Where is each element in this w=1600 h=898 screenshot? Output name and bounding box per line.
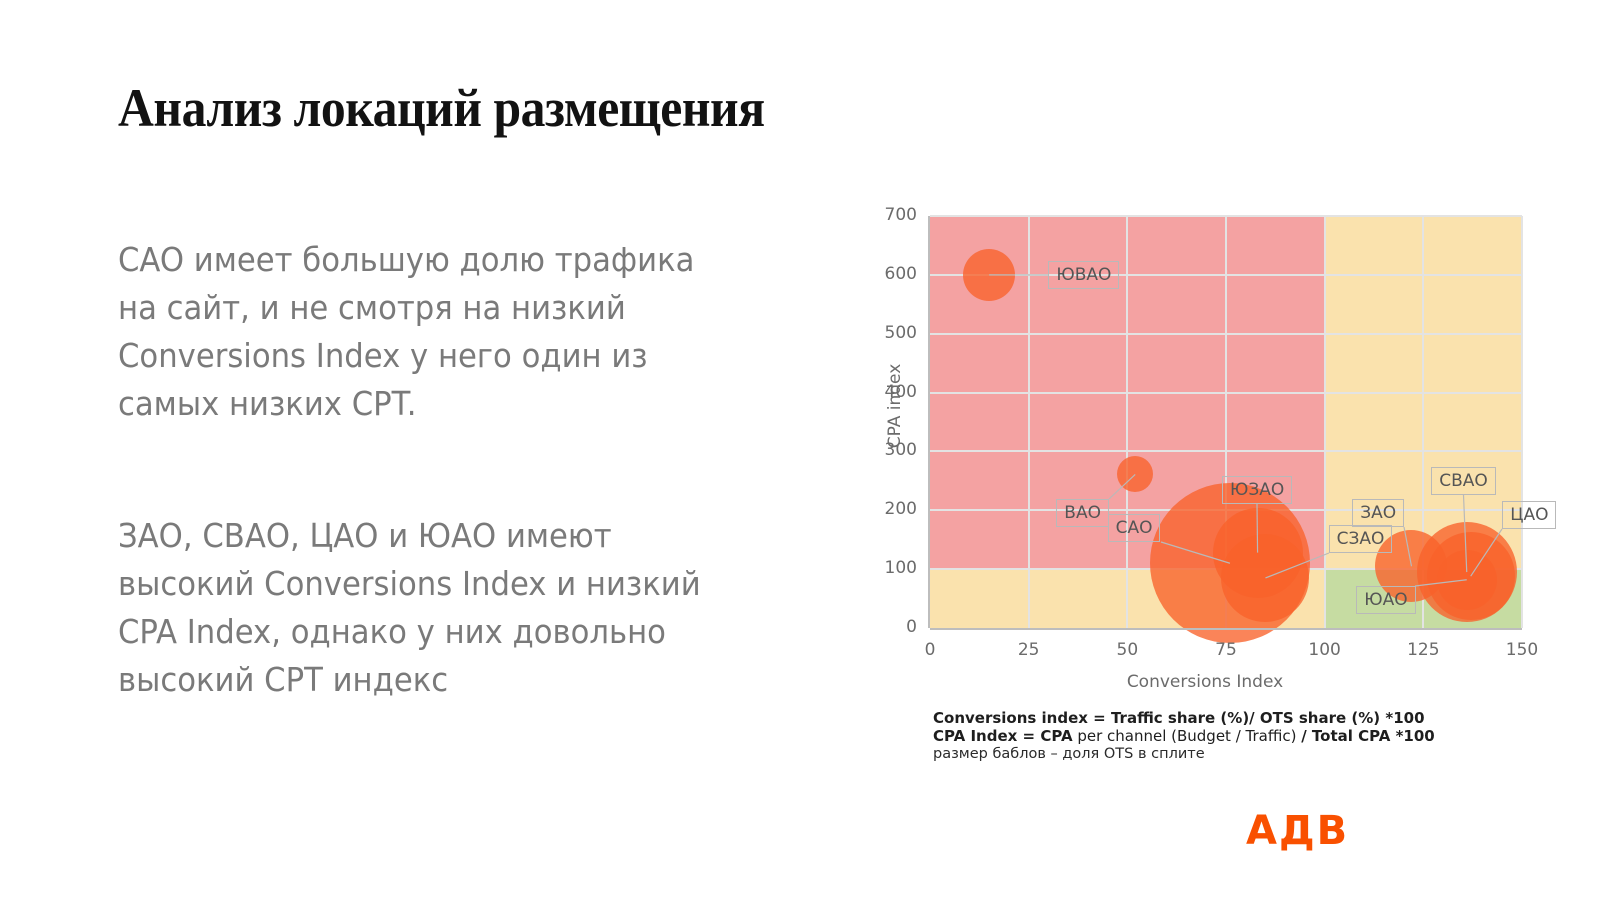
callout-ВАО[interactable]: ВАО: [1056, 499, 1109, 527]
x-axis-tick: 75: [1196, 640, 1256, 660]
footnote-cpa-tail: / Total CPA *100: [1301, 727, 1435, 745]
body-paragraph-2: ЗАО, СВАО, ЦАО и ЮАО имеют высокий Conve…: [118, 512, 769, 704]
footnote-line-1: Conversions index = Traffic share (%)/ O…: [933, 709, 1425, 727]
y-axis-tick: 500: [855, 323, 917, 343]
gridline-horizontal: [930, 392, 1522, 394]
bubble-ЮВАО[interactable]: [963, 249, 1015, 301]
footnote-cpa-mid: per channel (Budget / Traffic): [1073, 727, 1302, 745]
body-paragraph-1: CAO имеет большую долю трафика на сайт, …: [118, 236, 769, 428]
x-axis-tick: 50: [1097, 640, 1157, 660]
y-axis-tick: 0: [855, 617, 917, 637]
y-axis-tick: 400: [855, 382, 917, 402]
footnote-cpa-label: CPA Index = CPA: [933, 727, 1073, 745]
chart-plot-area: ЮВАОВАОСАОЮЗАОСЗАОЗАОСВАОЦАОЮАО: [930, 216, 1522, 628]
callout-СВАО[interactable]: СВАО: [1431, 467, 1496, 495]
gridline-horizontal: [930, 215, 1522, 217]
callout-САО[interactable]: САО: [1108, 514, 1161, 542]
gridline-horizontal: [930, 274, 1522, 276]
slide-root: Анализ локаций размещения CAO имеет боль…: [0, 0, 1600, 898]
y-axis-tick: 200: [855, 499, 917, 519]
callout-ЗАО[interactable]: ЗАО: [1352, 499, 1404, 527]
callout-ЮЗАО[interactable]: ЮЗАО: [1222, 476, 1292, 504]
page-title: Анализ локаций размещения: [118, 78, 765, 138]
gridline-vertical: [1126, 216, 1128, 628]
bubble-СЗАО[interactable]: [1221, 534, 1309, 622]
gridline-vertical: [1028, 216, 1030, 628]
y-axis-line: [928, 216, 930, 628]
gridline-horizontal: [930, 333, 1522, 335]
footnote-conversions-formula: = Traffic share (%)/ OTS share (%) *100: [1088, 709, 1425, 727]
footnote-line-3: размер баблов – доля OTS в сплите: [933, 746, 1205, 762]
y-axis-tick: 700: [855, 205, 917, 225]
x-axis-title: Conversions Index: [855, 672, 1555, 692]
y-axis-tick: 100: [855, 558, 917, 578]
gridline-vertical: [1324, 216, 1326, 628]
footnote-conversions-label: Conversions index: [933, 709, 1088, 727]
x-axis-line: [930, 628, 1522, 630]
callout-ЦАО[interactable]: ЦАО: [1502, 501, 1556, 529]
callout-СЗАО[interactable]: СЗАО: [1329, 525, 1393, 553]
x-axis-tick: 100: [1295, 640, 1355, 660]
y-axis-tick: 300: [855, 440, 917, 460]
callout-ЮАО[interactable]: ЮАО: [1356, 586, 1415, 614]
gridline-horizontal: [930, 450, 1522, 452]
x-axis-tick: 25: [999, 640, 1059, 660]
gridline-vertical: [1521, 216, 1523, 628]
y-axis-tick: 600: [855, 264, 917, 284]
adv-logo: АДВ: [1246, 808, 1349, 854]
callout-ЮВАО[interactable]: ЮВАО: [1048, 261, 1119, 289]
x-axis-tick: 0: [900, 640, 960, 660]
bubble-ЮАО[interactable]: [1437, 550, 1497, 610]
footnote-line-2: CPA Index = CPA per channel (Budget / Tr…: [933, 727, 1435, 745]
x-axis-tick: 125: [1393, 640, 1453, 660]
x-axis-tick: 150: [1492, 640, 1552, 660]
bubble-chart: ЮВАОВАОСАОЮЗАОСЗАОЗАОСВАОЦАОЮАО Conversi…: [855, 200, 1555, 700]
